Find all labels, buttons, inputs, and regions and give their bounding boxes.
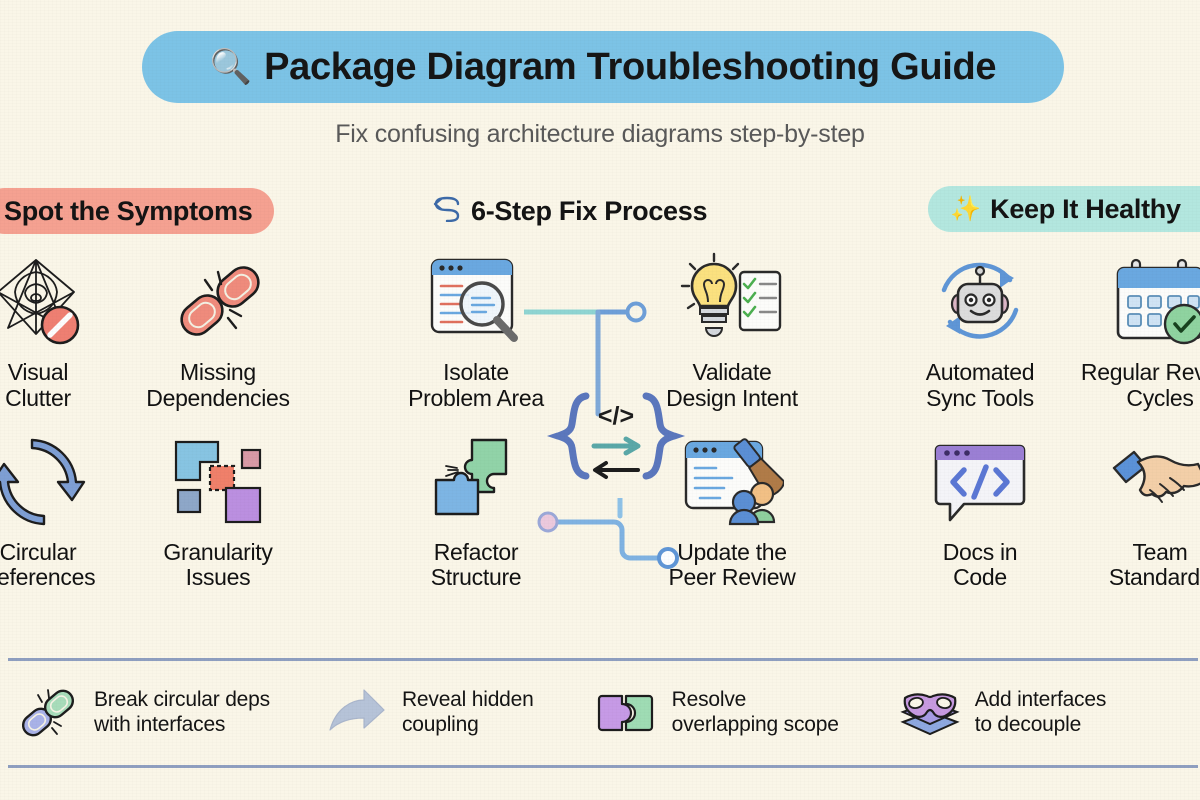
column-symptoms: Visual Clutter [0,250,308,591]
refresh-loop-icon [432,196,462,227]
footer-legend: Break circular deps with interfaces Reve… [8,658,1198,768]
section-header-process: 6-Step Fix Process [432,188,729,234]
legend-text: Add interfaces to decouple [975,688,1106,738]
item-regular-review-cycles: Regular Review Cycles [1070,250,1200,412]
section-label-symptoms: Spot the Symptoms [4,196,252,227]
legend-item-resolve-overlapping-scope: Resolve overlapping scope [596,682,839,744]
item-docs-in-code: Docs in Code [890,430,1070,592]
puzzle-pieces-icon [424,430,528,534]
page-subtitle: Fix confusing architecture diagrams step… [0,120,1200,149]
item-caption: Refactor Structure [431,540,522,592]
code-speech-bubble-icon [928,430,1032,534]
item-circular-references: Circular References [0,430,128,592]
item-caption: Granularity Issues [163,540,272,592]
item-caption: Circular References [0,540,95,592]
item-automated-sync-tools: Automated Sync Tools [890,250,1070,412]
broken-chain-icon [166,250,270,354]
calendar-check-icon [1108,250,1200,354]
mismatched-blocks-icon [166,430,270,534]
item-granularity-issues: Granularity Issues [128,430,308,592]
section-header-symptoms: Spot the Symptoms [0,188,274,234]
svg-text:</>: </> [598,402,634,430]
item-caption: Automated Sync Tools [926,360,1035,412]
lightbulb-checklist-icon [680,250,784,354]
title-banner: 🔍 Package Diagram Troubleshooting Guide [142,31,1064,103]
process-flow-connector-bottom [522,498,712,611]
column-healthy: Automated Sync Tools Reg [890,250,1200,591]
section-label-process: 6-Step Fix Process [471,196,707,227]
legend-item-reveal-hidden-coupling: Reveal hidden coupling [326,682,534,744]
curved-arrow-icon [326,682,388,744]
item-missing-dependencies: Missing Dependencies [128,250,308,412]
section-header-healthy: ✨ Keep It Healthy [928,186,1200,232]
circular-arrows-icon [0,430,90,534]
legend-text: Resolve overlapping scope [672,688,839,738]
item-caption: Team Standards [1109,540,1200,592]
two-puzzle-pieces-icon [596,682,658,744]
spiderweb-blocked-icon [0,250,90,354]
item-caption: Regular Review Cycles [1081,360,1200,412]
legend-text: Break circular deps with interfaces [94,688,270,738]
page-title: Package Diagram Troubleshooting Guide [264,46,996,89]
robot-sync-icon [928,250,1032,354]
item-caption: Visual Clutter [5,360,71,412]
item-visual-clutter: Visual Clutter [0,250,128,412]
window-magnifier-icon [424,250,528,354]
item-caption: Docs in Code [943,540,1018,592]
handshake-icon [1108,430,1200,534]
section-label-healthy: Keep It Healthy [990,194,1181,225]
mask-layers-icon [899,682,961,744]
sparkles-icon: ✨ [950,197,981,222]
legend-item-break-circular-deps: Break circular deps with interfaces [18,682,270,744]
code-braces-exchange-icon: </> [540,390,692,502]
item-caption: Missing Dependencies [146,360,289,412]
magnifying-glass-icon: 🔍 [210,50,252,84]
item-team-standards: Team Standards [1070,430,1200,592]
chain-link-icon [18,682,80,744]
legend-item-add-interfaces-to-decouple: Add interfaces to decouple [899,682,1106,744]
legend-text: Reveal hidden coupling [402,688,534,738]
